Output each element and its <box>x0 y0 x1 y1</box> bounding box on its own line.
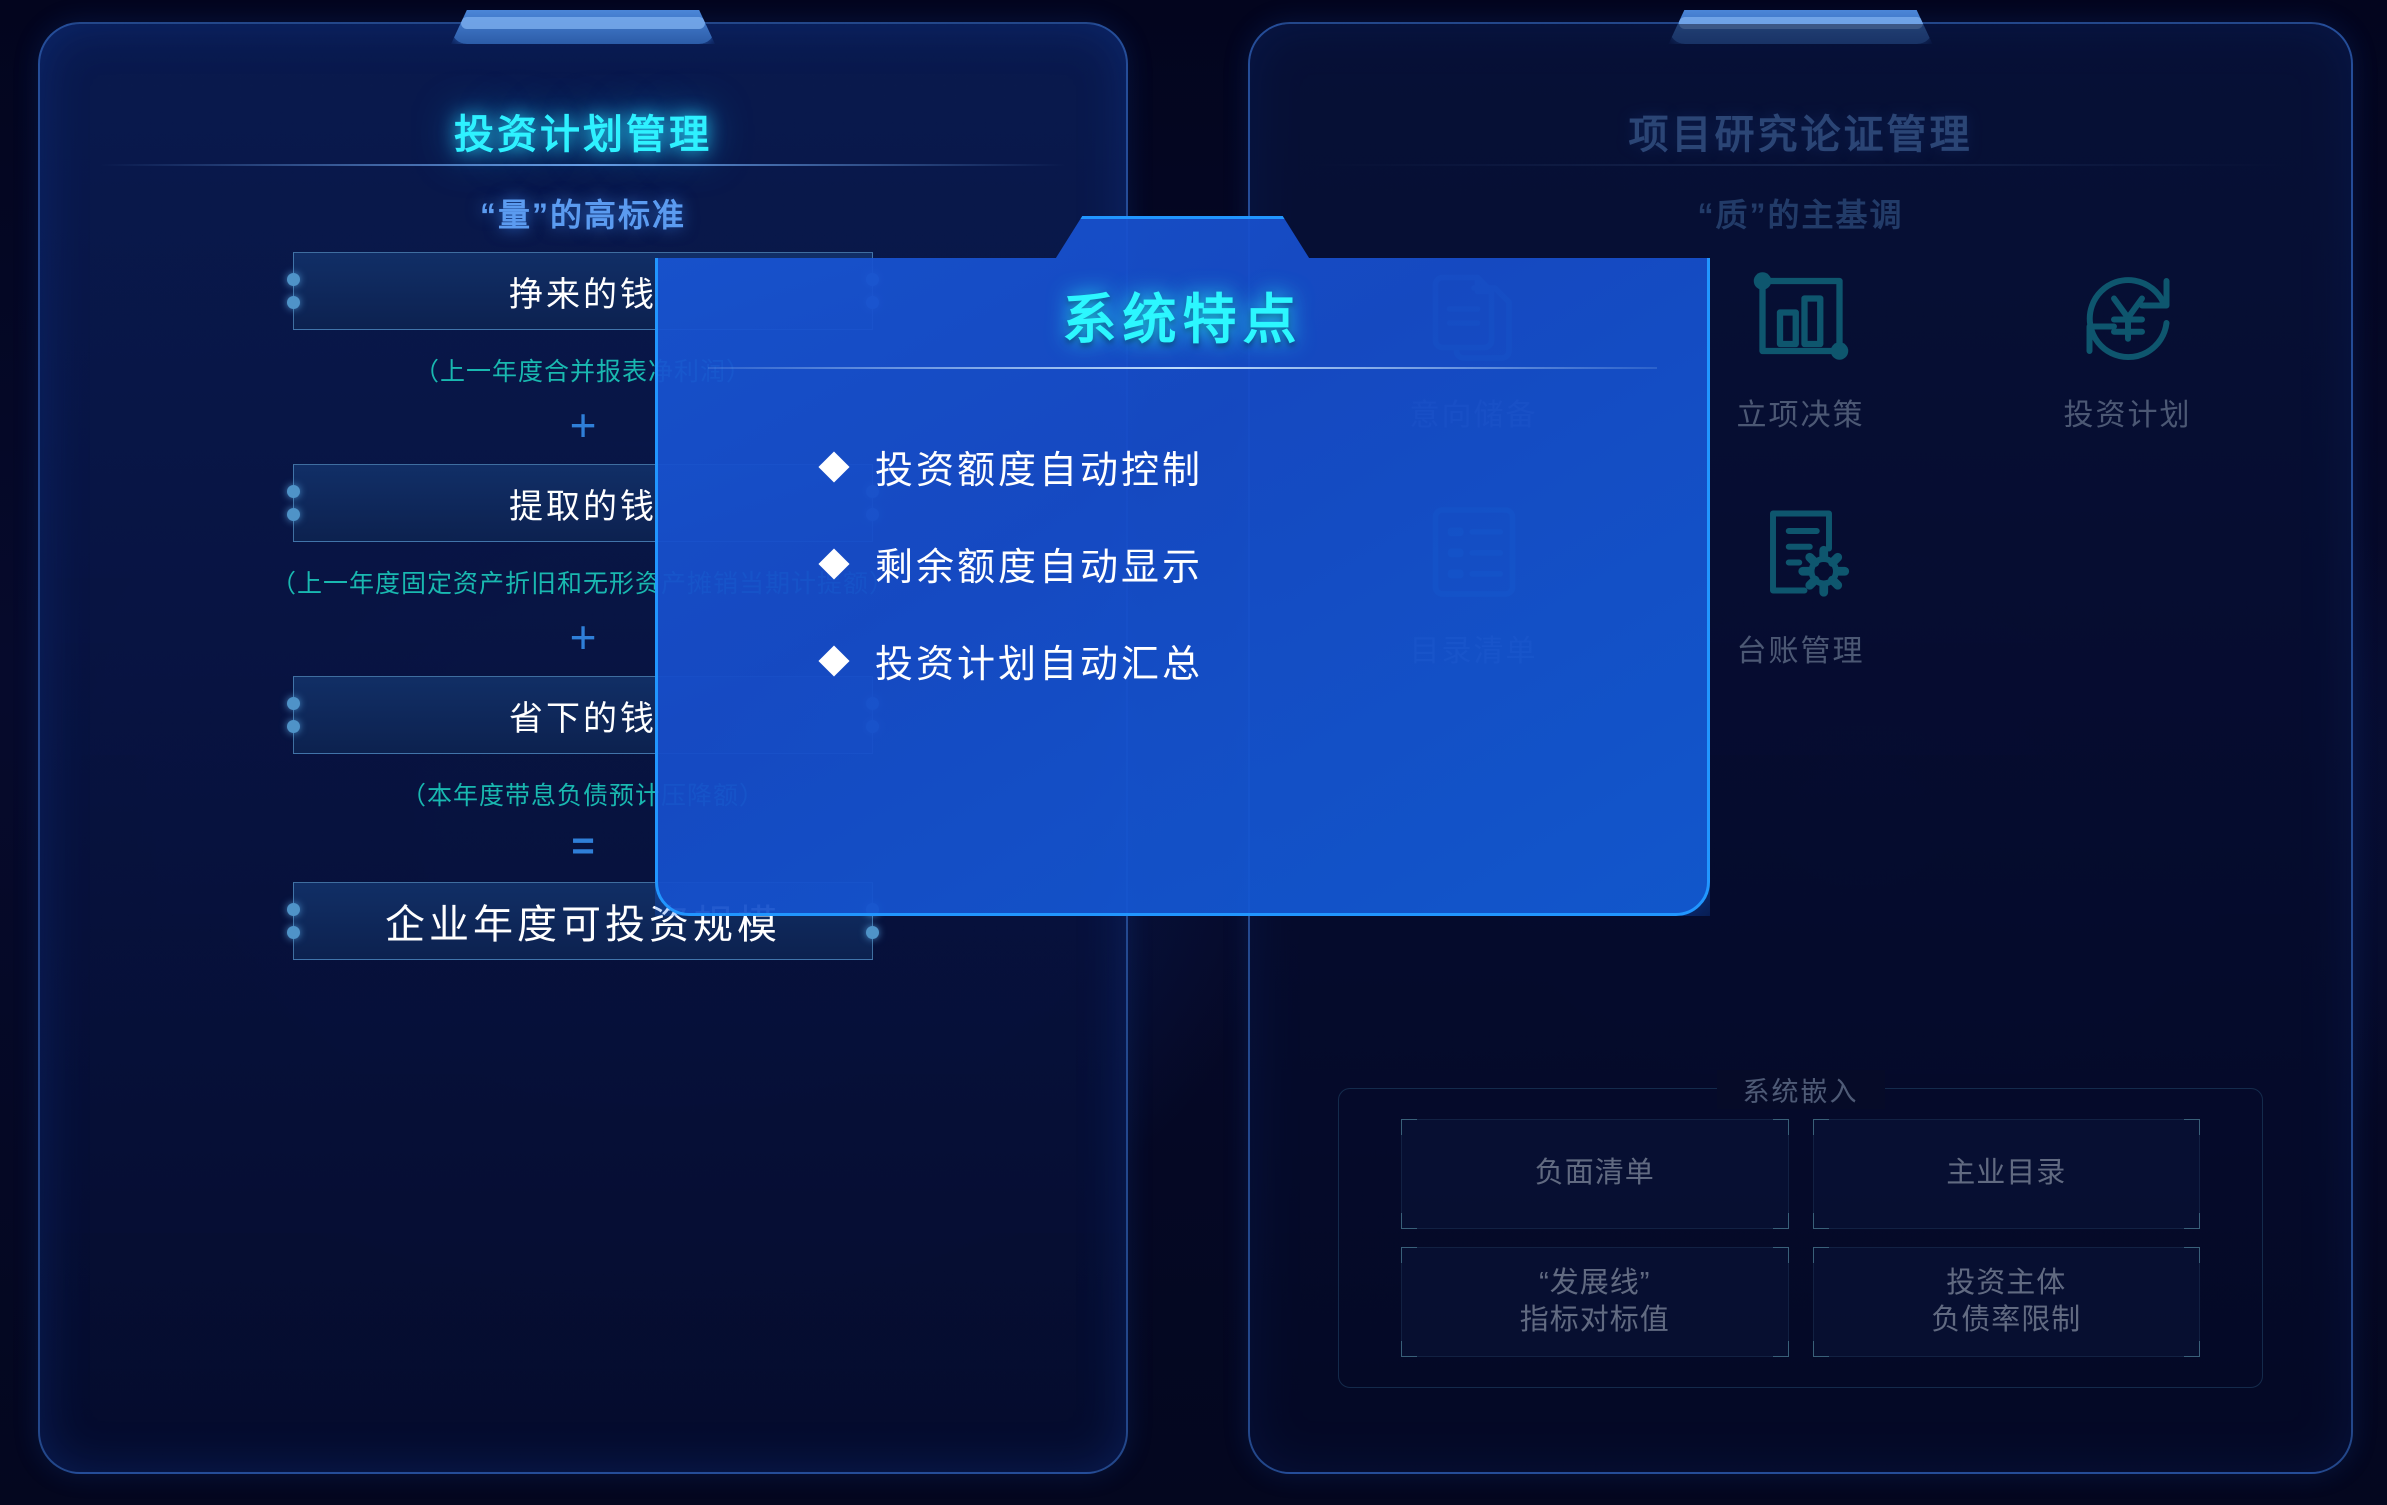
divider <box>100 164 1066 166</box>
corner-bracket-icon <box>1813 1213 1829 1229</box>
corner-bracket-icon <box>2184 1247 2200 1263</box>
connector-dot <box>287 926 300 939</box>
system-embed-grid: 负面清单 主业目录 “发展线” 指标对标值 投资主体 <box>1401 1119 2200 1357</box>
list-item: 投资额度自动控制 <box>823 439 1647 494</box>
module-label: 立项决策 <box>1737 390 1865 434</box>
connector-dot <box>287 296 300 309</box>
embed-box-label: “发展线” 指标对标值 <box>1520 1265 1670 1339</box>
corner-bracket-icon <box>1401 1119 1417 1135</box>
embed-box-label: 负面清单 <box>1535 1155 1655 1192</box>
embed-box-debt-ratio-limit[interactable]: 投资主体 负债率限制 <box>1813 1247 2201 1357</box>
corner-bracket-icon <box>1401 1247 1417 1263</box>
corner-bracket-icon <box>1773 1341 1789 1357</box>
corner-bracket-icon <box>1773 1119 1789 1135</box>
corner-bracket-icon <box>2184 1119 2200 1135</box>
connector-dot <box>287 697 300 710</box>
list-item: 剩余额度自动显示 <box>823 536 1647 591</box>
embed-box-development-line[interactable]: “发展线” 指标对标值 <box>1401 1247 1789 1357</box>
connector-dot <box>287 720 300 733</box>
module-label: 台账管理 <box>1737 626 1865 670</box>
system-embed-group: 系统嵌入 负面清单 主业目录 “发展线” 指标对标值 <box>1338 1088 2263 1388</box>
bar-chart-icon <box>1745 260 1857 372</box>
feature-label: 剩余额度自动显示 <box>875 536 1203 591</box>
divider <box>1310 164 2291 166</box>
document-gear-icon <box>1745 496 1857 608</box>
module-investment-plan[interactable]: 投资计划 <box>1964 260 2291 434</box>
panel-handle-decoration <box>451 10 715 44</box>
subtitle-left: “量”的高标准 <box>40 190 1126 236</box>
corner-bracket-icon <box>1813 1247 1829 1263</box>
corner-bracket-icon <box>2184 1213 2200 1229</box>
feature-label: 投资额度自动控制 <box>875 439 1203 494</box>
page-title-right: 项目研究论证管理 <box>1250 102 2351 160</box>
connector-dot <box>287 508 300 521</box>
formula-box-label: 省下的钱 <box>509 691 657 740</box>
formula-box-label: 提取的钱 <box>509 479 657 528</box>
list-item: 投资计划自动汇总 <box>823 633 1647 688</box>
yen-refresh-icon <box>2072 260 2184 372</box>
corner-bracket-icon <box>2184 1341 2200 1357</box>
system-features-card: 系统特点 投资额度自动控制 剩余额度自动显示 投资计划自动汇总 <box>655 216 1710 916</box>
embed-box-label: 主业目录 <box>1946 1155 2066 1192</box>
formula-box-label: 挣来的钱 <box>509 267 657 316</box>
connector-dot <box>287 485 300 498</box>
connector-dot <box>287 273 300 286</box>
card-title: 系统特点 <box>658 275 1707 354</box>
corner-bracket-icon <box>1773 1213 1789 1229</box>
corner-bracket-icon <box>1813 1119 1829 1135</box>
connector-dot <box>866 926 879 939</box>
module-label: 投资计划 <box>2064 390 2192 434</box>
diamond-bullet-icon <box>818 451 849 482</box>
corner-bracket-icon <box>1813 1341 1829 1357</box>
page-title-left: 投资计划管理 <box>40 102 1126 160</box>
panel-handle-decoration <box>1669 10 1933 44</box>
corner-bracket-icon <box>1401 1341 1417 1357</box>
embed-box-negative-list[interactable]: 负面清单 <box>1401 1119 1789 1229</box>
feature-list: 投资额度自动控制 剩余额度自动显示 投资计划自动汇总 <box>823 439 1647 688</box>
embed-box-label: 投资主体 负债率限制 <box>1931 1265 2081 1339</box>
corner-bracket-icon <box>1401 1213 1417 1229</box>
diamond-bullet-icon <box>818 645 849 676</box>
corner-bracket-icon <box>1773 1247 1789 1263</box>
subtitle-right: “质”的主基调 <box>1250 190 2351 236</box>
card-divider <box>708 367 1657 369</box>
feature-label: 投资计划自动汇总 <box>875 633 1203 688</box>
connector-dot <box>287 903 300 916</box>
embed-box-main-business-catalog[interactable]: 主业目录 <box>1813 1119 2201 1229</box>
system-embed-legend: 系统嵌入 <box>1717 1070 1885 1109</box>
diamond-bullet-icon <box>818 548 849 579</box>
